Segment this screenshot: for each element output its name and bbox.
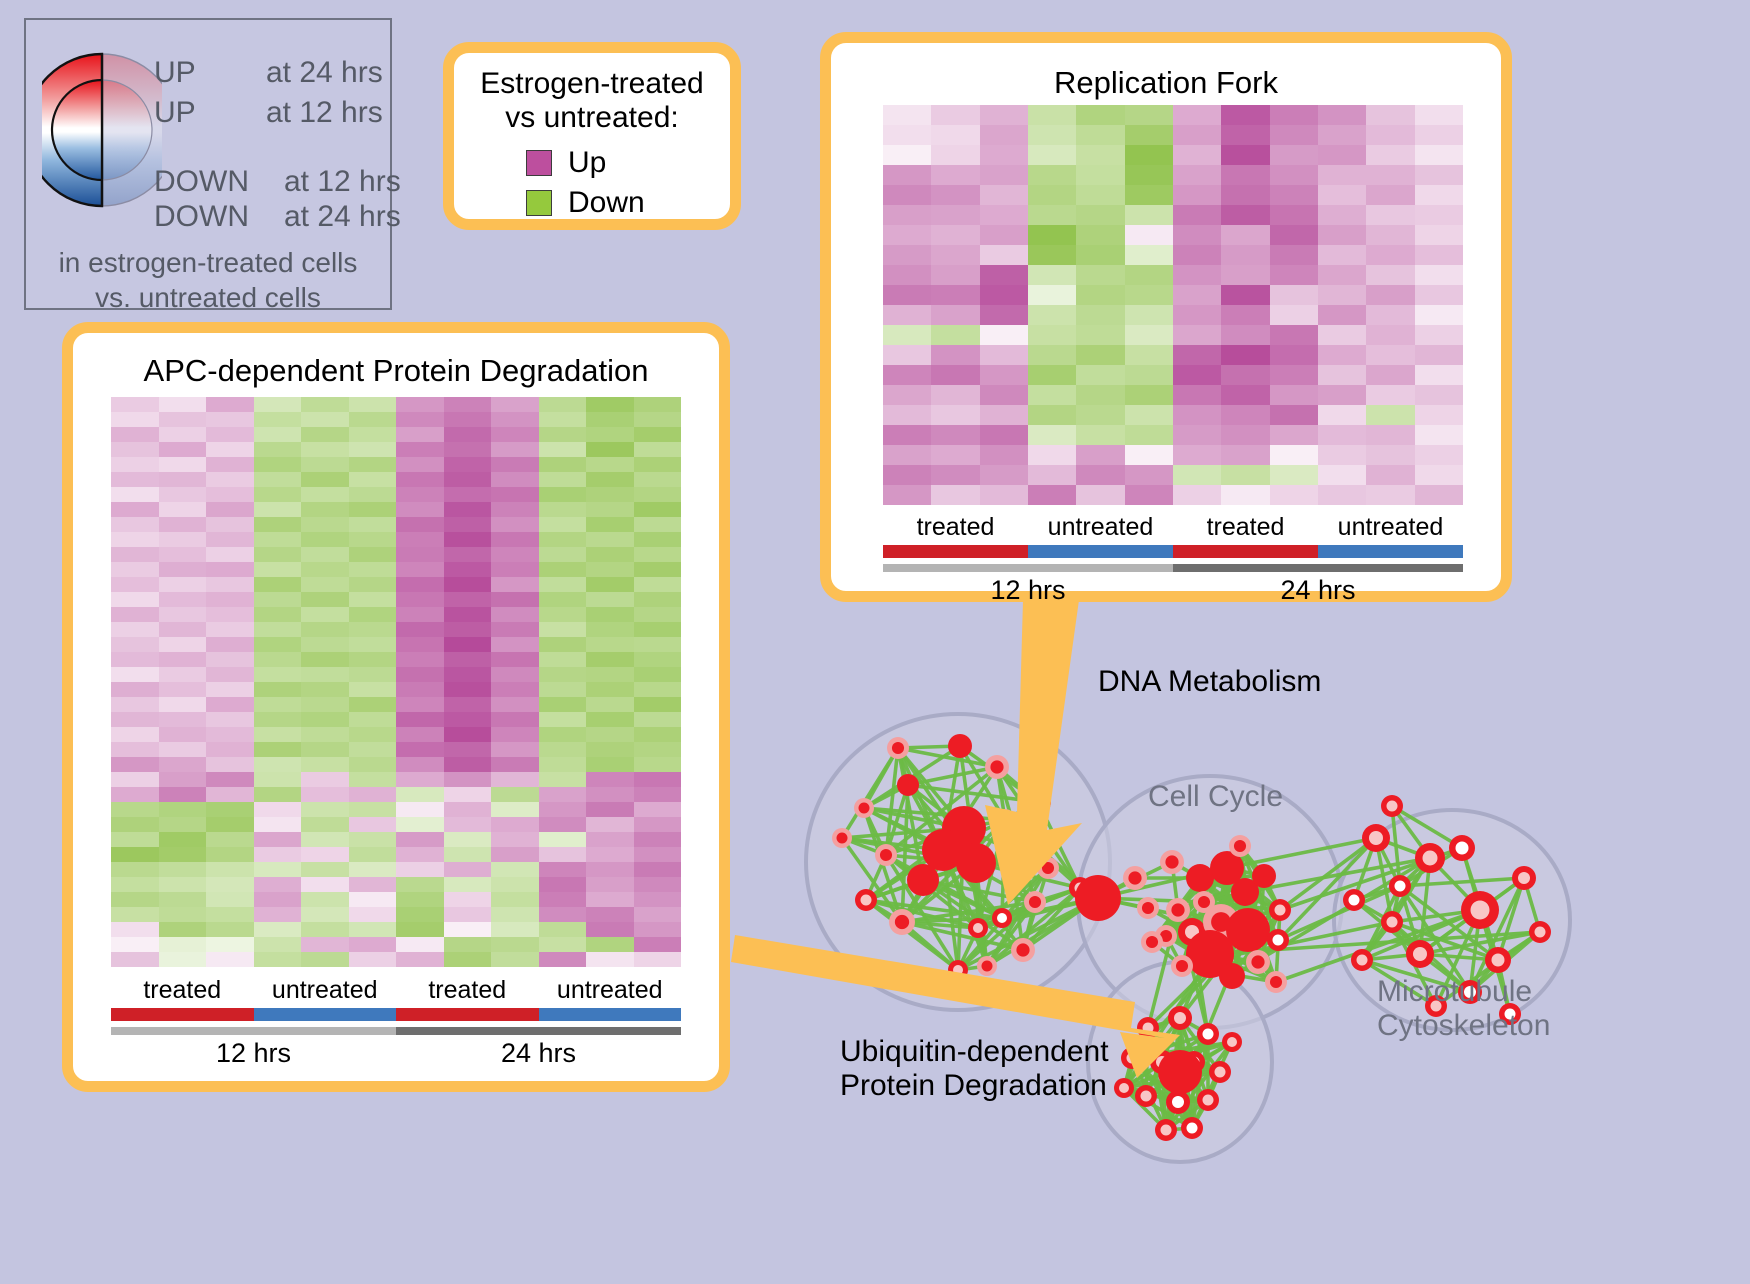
heatmap-cell [883, 445, 931, 465]
network-node[interactable] [1369, 831, 1383, 845]
heatmap-cell [206, 682, 254, 697]
heatmap-cell [1318, 305, 1366, 325]
network-node[interactable] [1176, 960, 1188, 972]
heatmap-cell [634, 397, 682, 412]
heatmap-cell [206, 592, 254, 607]
heatmap-cell [1173, 385, 1221, 405]
heatmap-cell [980, 465, 1028, 485]
heatmap-cell [883, 125, 931, 145]
network-node[interactable] [892, 742, 904, 754]
heatmap-cell [634, 532, 682, 547]
heatmap-cell [444, 757, 492, 772]
heatmap-cell [1076, 345, 1124, 365]
heatmap-cell [491, 742, 539, 757]
heatmap-cell [301, 592, 349, 607]
heatmap-cell [111, 922, 159, 937]
heatmap-cell [301, 667, 349, 682]
heatmap-cell [1173, 165, 1221, 185]
heatmap-cell [491, 487, 539, 502]
down-color-swatch [526, 190, 552, 216]
heatmap-cell [301, 412, 349, 427]
heatmap-cell [1318, 405, 1366, 425]
heatmap-cell [1366, 165, 1414, 185]
heatmap-cell [111, 817, 159, 832]
heatmap-cell [254, 547, 302, 562]
network-node[interactable] [1143, 1023, 1154, 1034]
heatmap-cell [586, 682, 634, 697]
heatmap-cell [254, 517, 302, 532]
heatmap-cell [539, 712, 587, 727]
heatmap-cell [206, 442, 254, 457]
heatmap-cell [111, 832, 159, 847]
network-node[interactable] [1387, 917, 1398, 928]
heatmap-cell [1318, 125, 1366, 145]
network-node[interactable] [1252, 864, 1276, 888]
network-node[interactable] [997, 913, 1007, 923]
heatmap-cell [1366, 325, 1414, 345]
network-node[interactable] [1349, 895, 1360, 906]
heatmap-cell [444, 937, 492, 952]
network-node[interactable] [1275, 905, 1286, 916]
network-node[interactable] [982, 961, 993, 972]
heatmap-cell [634, 697, 682, 712]
network-node[interactable] [1042, 862, 1054, 874]
network-node[interactable] [1492, 954, 1505, 967]
heatmap-cell [1028, 265, 1076, 285]
heatmap-cell [301, 397, 349, 412]
network-node[interactable] [999, 814, 1011, 826]
network-node[interactable] [1161, 1125, 1172, 1136]
network-node[interactable] [1387, 801, 1398, 812]
network-node[interactable] [1203, 1029, 1214, 1040]
treatment-bar-segment [1173, 545, 1318, 558]
heatmap-cell [349, 487, 397, 502]
heatmap-cell [206, 637, 254, 652]
network-node[interactable] [1456, 842, 1469, 855]
heatmap-cell [883, 145, 931, 165]
network-node[interactable] [1174, 1012, 1186, 1024]
network-node[interactable] [990, 760, 1003, 773]
heatmap-cell [539, 622, 587, 637]
heatmap-cell [1125, 365, 1173, 385]
heatmap-cell [444, 952, 492, 967]
heatmap-cell [586, 577, 634, 592]
heatmap-cell [1318, 425, 1366, 445]
heatmap-cell [491, 427, 539, 442]
network-node[interactable] [897, 774, 919, 796]
heatmap-cell [1173, 225, 1221, 245]
heatmap-cell [444, 817, 492, 832]
heatmap-cell [634, 682, 682, 697]
heatmap-cell [586, 622, 634, 637]
apc-time-labels: 12 hrs24 hrs [111, 1038, 681, 1069]
network-node[interactable] [1251, 955, 1264, 968]
heatmap-cell [1415, 205, 1463, 225]
heatmap-cell [586, 592, 634, 607]
heatmap-cell [254, 427, 302, 442]
heatmap-cell [396, 952, 444, 967]
heatmap-cell [539, 577, 587, 592]
network-node[interactable] [973, 923, 983, 933]
heatmap-cell [586, 502, 634, 517]
heatmap-cell [159, 472, 207, 487]
network-node[interactable] [1146, 936, 1158, 948]
heatmap-cell [1221, 365, 1269, 385]
group-label-untreated: untreated [254, 976, 397, 1005]
heatmap-cell [349, 397, 397, 412]
heatmap-cell [634, 877, 682, 892]
network-node[interactable] [956, 843, 996, 883]
network-node[interactable] [1119, 1083, 1129, 1093]
heatmap-cell [159, 412, 207, 427]
heatmap-cell [396, 682, 444, 697]
heatmap-cell [396, 532, 444, 547]
heatmap-cell [254, 757, 302, 772]
heatmap-cell [111, 772, 159, 787]
heatmap-cell [396, 607, 444, 622]
heatmap-cell [349, 697, 397, 712]
heatmap-cell [931, 205, 979, 225]
network-node[interactable] [837, 833, 848, 844]
heatmap-cell [491, 457, 539, 472]
heatmap-cell [1125, 145, 1173, 165]
heatmap-cell [491, 832, 539, 847]
heatmap-cell [396, 757, 444, 772]
heatmap-cell [1028, 165, 1076, 185]
heatmap-cell [931, 485, 979, 505]
heatmap-cell [1173, 285, 1221, 305]
heatmap-cell [349, 607, 397, 622]
network-node[interactable] [1273, 935, 1284, 946]
heatmap-cell [1366, 385, 1414, 405]
heatmap-cell [1125, 205, 1173, 225]
heatmap-cell [931, 185, 979, 205]
network-node[interactable] [1158, 1050, 1202, 1094]
heatmap-cell [444, 622, 492, 637]
network-node[interactable] [1075, 875, 1121, 921]
heatmap-cell [931, 425, 979, 445]
heatmap-cell [349, 817, 397, 832]
network-node[interactable] [1172, 1096, 1184, 1108]
network-node[interactable] [880, 849, 892, 861]
heatmap-cell [586, 907, 634, 922]
heatmap-cell [254, 892, 302, 907]
heatmap-cell [1415, 365, 1463, 385]
heatmap-cell [1076, 245, 1124, 265]
heatmap-cell [491, 772, 539, 787]
heatmap-cell [491, 877, 539, 892]
heatmap-cell [159, 907, 207, 922]
heatmap-cell [349, 577, 397, 592]
heatmap-cell [586, 712, 634, 727]
heatmap-cell [586, 607, 634, 622]
heatmap-cell [1318, 285, 1366, 305]
heatmap-cell [254, 772, 302, 787]
heatmap-cell [159, 712, 207, 727]
heatmap-cell [634, 802, 682, 817]
heatmap-cell [539, 697, 587, 712]
heatmap-cell [1221, 305, 1269, 325]
heatmap-cell [1125, 485, 1173, 505]
group-label-treated: treated [883, 513, 1028, 542]
heatmap-cell [206, 562, 254, 577]
heatmap-cell [1270, 145, 1318, 165]
heatmap-cell [883, 345, 931, 365]
heatmap-cell [539, 892, 587, 907]
heatmap-cell [634, 442, 682, 457]
heatmap-cell [1173, 325, 1221, 345]
heatmap-cell [586, 517, 634, 532]
network-node[interactable] [1413, 947, 1427, 961]
heatmap-cell [491, 442, 539, 457]
network-node[interactable] [861, 895, 872, 906]
heatmap-cell [396, 712, 444, 727]
heatmap-cell [1221, 205, 1269, 225]
heatmap-cell [301, 892, 349, 907]
heatmap-cell [1173, 205, 1221, 225]
network-node[interactable] [1025, 789, 1051, 815]
heatmap-cell [634, 817, 682, 832]
heatmap-cell [301, 652, 349, 667]
heatmap-cell [1318, 205, 1366, 225]
network-node[interactable] [1471, 901, 1490, 920]
heatmap-cell [539, 442, 587, 457]
network-node[interactable] [1016, 943, 1029, 956]
heatmap-cell [1318, 225, 1366, 245]
heatmap-cell [980, 425, 1028, 445]
heatmap-cell [491, 637, 539, 652]
heatmap-cell [349, 682, 397, 697]
heatmap-cell [159, 442, 207, 457]
heatmap-cell [931, 285, 979, 305]
heatmap-cell [1125, 325, 1173, 345]
heatmap-cell [634, 637, 682, 652]
network-node[interactable] [1270, 976, 1282, 988]
heatmap-cell [980, 325, 1028, 345]
network-node[interactable] [1518, 872, 1530, 884]
heatmap-cell [159, 532, 207, 547]
heatmap-cell [206, 652, 254, 667]
heatmap-cell [586, 832, 634, 847]
heatmap-cell [1221, 325, 1269, 345]
treatment-bar-segment [1028, 545, 1173, 558]
heatmap-cell [254, 622, 302, 637]
heatmap-cell [1415, 225, 1463, 245]
heatmap-cell [1076, 445, 1124, 465]
heatmap-cell [1221, 225, 1269, 245]
heatmap-cell [1366, 285, 1414, 305]
heatmap-cell [1028, 425, 1076, 445]
heatmap-cell [1415, 425, 1463, 445]
network-node[interactable] [1186, 864, 1214, 892]
heatmap-cell [634, 712, 682, 727]
heatmap-cell [586, 697, 634, 712]
key-card-title: Estrogen-treated vs untreated: [454, 67, 730, 134]
heatmap-cell [491, 652, 539, 667]
heatmap-cell [1366, 225, 1414, 245]
heatmap-cell [301, 712, 349, 727]
heatmap-cell [539, 802, 587, 817]
heatmap-cell [1221, 185, 1269, 205]
heatmap-cell [1173, 305, 1221, 325]
heatmap-cell [931, 365, 979, 385]
apc-heatmap [111, 397, 681, 967]
heatmap-cell [396, 427, 444, 442]
network-node[interactable] [1226, 908, 1270, 952]
legend-up-24-label: UP [154, 56, 196, 90]
heatmap-cell [539, 502, 587, 517]
heatmap-cell [1318, 345, 1366, 365]
heatmap-cell [1366, 345, 1414, 365]
heatmap-cell [1270, 185, 1318, 205]
heatmap-cell [1366, 405, 1414, 425]
heatmap-cell [980, 245, 1028, 265]
heatmap-cell [1076, 225, 1124, 245]
heatmap-cell [1076, 405, 1124, 425]
network-node[interactable] [1395, 881, 1406, 892]
heatmap-cell [349, 502, 397, 517]
network-node[interactable] [1215, 1067, 1226, 1078]
heatmap-cell [539, 517, 587, 532]
heatmap-cell [444, 457, 492, 472]
heatmap-cell [396, 787, 444, 802]
heatmap-cell [396, 832, 444, 847]
heatmap-cell [1366, 105, 1414, 125]
heatmap-cell [1318, 185, 1366, 205]
network-node[interactable] [1423, 851, 1438, 866]
heatmap-cell [254, 592, 302, 607]
heatmap-cell [1221, 245, 1269, 265]
heatmap-cell [1028, 225, 1076, 245]
apc-treatment-bar [111, 1008, 681, 1021]
heatmap-cell [1173, 245, 1221, 265]
heatmap-cell [1028, 465, 1076, 485]
network-node[interactable] [1227, 1037, 1237, 1047]
heatmap-cell [1366, 425, 1414, 445]
heatmap-cell [254, 472, 302, 487]
heatmap-cell [539, 952, 587, 967]
network-node[interactable] [1142, 902, 1154, 914]
replication-fork-title: Replication Fork [831, 65, 1501, 101]
heatmap-cell [444, 442, 492, 457]
figure-root: UP at 24 hrs UP at 12 hrs DOWN at 12 hrs… [0, 0, 1750, 1279]
heatmap-cell [159, 487, 207, 502]
heatmap-cell [444, 502, 492, 517]
heatmap-cell [586, 637, 634, 652]
network-node[interactable] [1203, 1095, 1214, 1106]
heatmap-cell [111, 637, 159, 652]
heatmap-cell [634, 622, 682, 637]
heatmap-cell [111, 667, 159, 682]
heatmap-cell [980, 125, 1028, 145]
heatmap-cell [491, 607, 539, 622]
heatmap-cell [206, 892, 254, 907]
heatmap-cell [159, 637, 207, 652]
network-node[interactable] [1535, 927, 1546, 938]
key-card-entries: Up Down [526, 143, 645, 223]
heatmap-cell [539, 727, 587, 742]
heatmap-cell [586, 952, 634, 967]
heatmap-cell [586, 802, 634, 817]
heatmap-cell [634, 607, 682, 622]
heatmap-cell [931, 105, 979, 125]
heatmap-cell [444, 892, 492, 907]
heatmap-cell [301, 787, 349, 802]
network-node[interactable] [1165, 855, 1178, 868]
up-label: Up [568, 146, 606, 180]
heatmap-cell [444, 682, 492, 697]
heatmap-cell [254, 742, 302, 757]
heatmap-cell [396, 592, 444, 607]
heatmap-cell [1221, 425, 1269, 445]
heatmap-cell [883, 425, 931, 445]
network-node[interactable] [1171, 903, 1184, 916]
heatmap-cell [1270, 365, 1318, 385]
network-node[interactable] [1187, 1123, 1198, 1134]
heatmap-cell [539, 457, 587, 472]
heatmap-cell [634, 457, 682, 472]
heatmap-cell [931, 445, 979, 465]
heatmap-cell [1076, 385, 1124, 405]
network-node[interactable] [1128, 871, 1141, 884]
heatmap-cell [349, 652, 397, 667]
heatmap-cell [634, 922, 682, 937]
network-node[interactable] [895, 915, 909, 929]
heatmap-cell [1318, 105, 1366, 125]
heatmap-cell [634, 517, 682, 532]
heatmap-cell [444, 922, 492, 937]
network-node[interactable] [1198, 896, 1210, 908]
heatmap-cell [159, 937, 207, 952]
heatmap-cell [980, 345, 1028, 365]
heatmap-cell [111, 877, 159, 892]
replication-fork-treatment-bar [883, 545, 1463, 558]
network-node[interactable] [1127, 1053, 1138, 1064]
network-node[interactable] [859, 803, 870, 814]
heatmap-cell [206, 772, 254, 787]
apc-panel-title: APC-dependent Protein Degradation [73, 353, 719, 389]
heatmap-cell [254, 502, 302, 517]
heatmap-cell [349, 787, 397, 802]
heatmap-cell [111, 427, 159, 442]
network-node[interactable] [953, 965, 963, 975]
heatmap-cell [254, 907, 302, 922]
network-node[interactable] [948, 734, 972, 758]
heatmap-cell [111, 757, 159, 772]
heatmap-cell [1366, 465, 1414, 485]
heatmap-cell [980, 225, 1028, 245]
heatmap-cell [159, 772, 207, 787]
heatmap-cell [301, 637, 349, 652]
heatmap-cell [1415, 325, 1463, 345]
network-node[interactable] [1141, 1091, 1152, 1102]
heatmap-cell [1366, 205, 1414, 225]
network-node[interactable] [1219, 963, 1245, 989]
network-node[interactable] [1029, 896, 1041, 908]
apc-time-bar [111, 1027, 681, 1035]
heatmap-cell [1076, 205, 1124, 225]
heatmap-cell [1415, 385, 1463, 405]
heatmap-cell [301, 427, 349, 442]
heatmap-cell [539, 607, 587, 622]
network-node[interactable] [907, 864, 939, 896]
heatmap-cell [1221, 405, 1269, 425]
heatmap-cell [444, 832, 492, 847]
heatmap-cell [1366, 305, 1414, 325]
heatmap-cell [586, 442, 634, 457]
network-node[interactable] [1357, 955, 1368, 966]
network-node[interactable] [1234, 840, 1246, 852]
